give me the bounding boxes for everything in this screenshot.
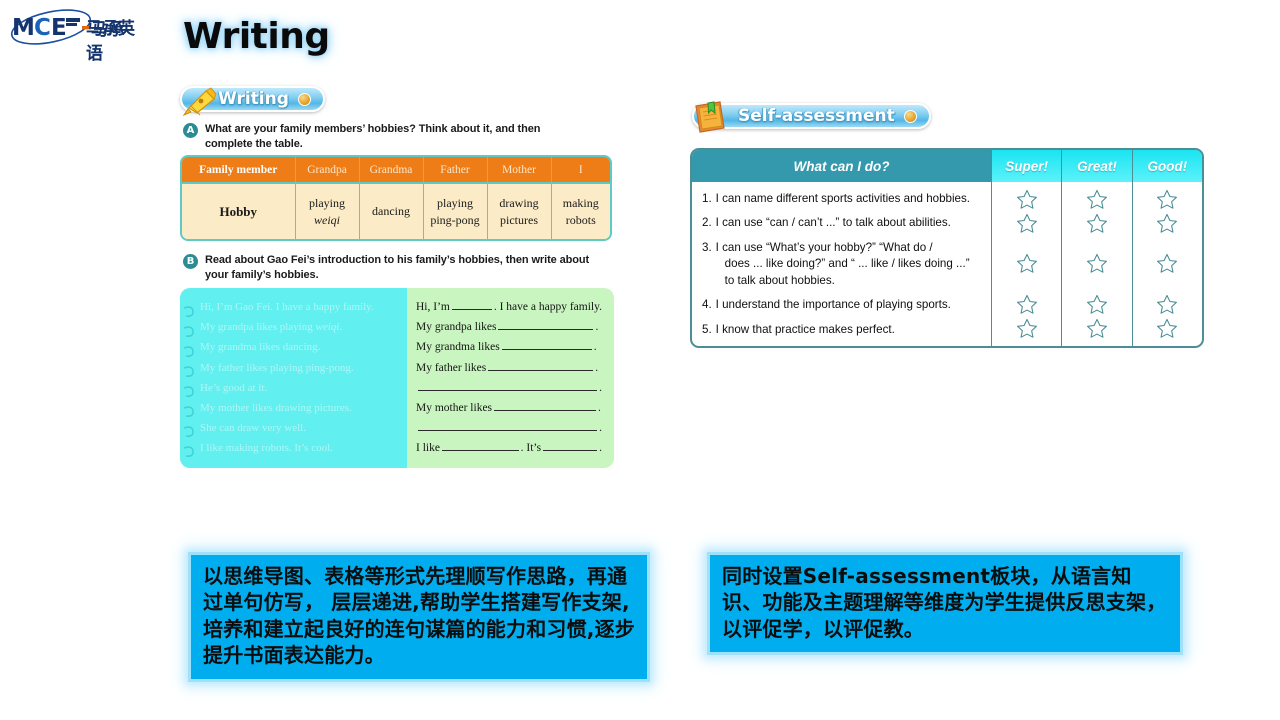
- model-text-line: Hi, I’m Gao Fei. I have a happy family.: [200, 297, 396, 317]
- cell-father-hobby: playing ping-pong: [423, 183, 487, 239]
- practice-prefix: My grandma likes: [416, 337, 500, 357]
- sa-statement-row: 5.I know that practice makes perfect.: [692, 318, 991, 342]
- task-a-text: What are your family members’ hobbies? T…: [205, 122, 575, 152]
- cell-line-1: playing: [437, 196, 473, 210]
- star-cell[interactable]: [1062, 211, 1131, 235]
- badge-dot-icon: [298, 93, 311, 106]
- star-outline-icon[interactable]: [1016, 213, 1038, 234]
- star-outline-icon[interactable]: [1086, 213, 1108, 234]
- practice-text-line: My mother likes.: [416, 398, 602, 418]
- star-outline-icon[interactable]: [1016, 189, 1038, 210]
- sa-star-column-great: [1062, 182, 1132, 346]
- writing-badge: Writing: [180, 86, 325, 112]
- annotation-callout-right: 同时设置Self-assessment板块，从语言知识、功能及主题理解等维度为学…: [707, 552, 1183, 655]
- annotation-text: 以思维导图、表格等形式先理顺写作思路，再通过单句仿写， 层层递进,帮助学生搭建写…: [203, 563, 637, 669]
- cell-grandma-hobby: dancing: [359, 183, 423, 239]
- table-row: Hobby playing weiqi dancing playing ping…: [182, 183, 610, 239]
- sa-col-header-super: Super!: [992, 150, 1062, 182]
- practice-text-line: .: [416, 418, 602, 438]
- sa-row-text: I understand the importance of playing s…: [716, 297, 983, 313]
- annotation-callout-left: 以思维导图、表格等形式先理顺写作思路，再通过单句仿写， 层层递进,帮助学生搭建写…: [188, 552, 650, 682]
- slide-page: M C E 马承 x . 马承英语 Writing Writing: [0, 0, 1280, 720]
- table-header-row: Family member Grandpa Grandma Father Mot…: [182, 157, 610, 183]
- cell-line-2: pictures: [500, 213, 538, 227]
- sa-col-header-question: What can I do?: [692, 150, 992, 182]
- sa-header-row: What can I do? Super! Great! Good!: [692, 150, 1202, 182]
- col-header-father: Father: [423, 157, 487, 183]
- sa-statement-row: 4.I understand the importance of playing…: [692, 293, 991, 317]
- sa-row-text-line: I understand the importance of playing s…: [716, 298, 951, 311]
- star-outline-icon[interactable]: [1016, 253, 1038, 274]
- self-assessment-badge: Self-assessment: [692, 103, 931, 129]
- sa-col-header-great: Great!: [1062, 150, 1132, 182]
- sa-row-number: 1.: [702, 191, 712, 207]
- model-text-line: My grandma likes dancing.: [200, 337, 396, 357]
- sa-col-header-good: Good!: [1133, 150, 1202, 182]
- practice-prefix: My father likes: [416, 358, 486, 378]
- sa-row-text-line: I can name different sports activities a…: [716, 192, 970, 205]
- star-outline-icon[interactable]: [1086, 294, 1108, 315]
- star-outline-icon[interactable]: [1016, 318, 1038, 339]
- sa-row-number: 2.: [702, 215, 712, 231]
- star-outline-icon[interactable]: [1016, 294, 1038, 315]
- col-header-family-member: Family member: [182, 157, 295, 183]
- fill-in-blank[interactable]: [494, 399, 596, 411]
- self-assessment-table: What can I do? Super! Great! Good! 1.I c…: [690, 148, 1204, 348]
- fill-in-blank[interactable]: [442, 439, 519, 451]
- fill-in-blank[interactable]: [502, 338, 592, 350]
- practice-prefix: I like: [416, 438, 440, 458]
- practice-text-line: My father likes.: [416, 358, 602, 378]
- star-cell[interactable]: [992, 187, 1061, 211]
- practice-prefix: My grandpa likes: [416, 317, 496, 337]
- practice-text-line: I like. It’s.: [416, 438, 602, 458]
- sa-statement-row: 3.I can use “What’s your hobby?” “What d…: [692, 236, 991, 293]
- practice-midfix: . It’s: [521, 438, 541, 458]
- practice-midfix: .: [594, 337, 597, 357]
- cell-line-2: weiqi: [314, 213, 340, 227]
- practice-text-line: .: [416, 378, 602, 398]
- star-cell[interactable]: [1133, 187, 1202, 211]
- cell-line-2: robots: [566, 213, 596, 227]
- practice-midfix: .: [595, 317, 598, 337]
- star-outline-icon[interactable]: [1156, 253, 1178, 274]
- col-header-grandma: Grandma: [359, 157, 423, 183]
- fill-in-blank[interactable]: [452, 298, 492, 310]
- star-cell[interactable]: [1062, 235, 1131, 292]
- practice-text-line: Hi, I’m. I have a happy family.: [416, 297, 602, 317]
- logo-chinese-text: 马承英语: [86, 14, 148, 64]
- model-text-line: My mother likes drawing pictures.: [200, 398, 396, 418]
- sa-row-text-line: to talk about hobbies.: [716, 273, 983, 289]
- sa-row-text-line: I know that practice makes perfect.: [716, 323, 895, 336]
- self-assessment-badge-pill: Self-assessment: [692, 103, 931, 129]
- sa-star-column-super: [992, 182, 1062, 346]
- fill-in-blank[interactable]: [488, 359, 593, 371]
- spiral-binding-icon: [182, 302, 198, 462]
- fill-in-blank[interactable]: [498, 318, 593, 330]
- practice-midfix: .: [599, 378, 602, 398]
- star-cell[interactable]: [1133, 211, 1202, 235]
- model-text-line: My grandpa likes playing weiqi.: [200, 317, 396, 337]
- self-assessment-badge-label: Self-assessment: [738, 106, 895, 126]
- star-outline-icon[interactable]: [1086, 318, 1108, 339]
- star-cell[interactable]: [1062, 316, 1131, 340]
- sa-statement-column: 1.I can name different sports activities…: [692, 182, 992, 346]
- sa-statement-row: 2.I can use “can / can’t ...” to talk ab…: [692, 211, 991, 235]
- book-icon: [690, 98, 734, 138]
- sa-row-text-line: I can use “can / can’t ...” to talk abou…: [716, 216, 951, 229]
- fill-in-blank[interactable]: [418, 379, 597, 391]
- practice-text-line: My grandpa likes.: [416, 317, 602, 337]
- star-cell[interactable]: [992, 316, 1061, 340]
- model-text-line: I like making robots. It’s cool.: [200, 438, 396, 458]
- sa-row-text: I can use “can / can’t ...” to talk abou…: [716, 215, 983, 231]
- cell-i-hobby: making robots: [551, 183, 610, 239]
- sa-row-text-line: I can use “What’s your hobby?” “What do …: [716, 241, 933, 254]
- star-cell[interactable]: [992, 211, 1061, 235]
- brand-logo: M C E 马承 x . 马承英语: [8, 6, 148, 48]
- model-text-lines: Hi, I’m Gao Fei. I have a happy family.M…: [200, 297, 396, 459]
- practice-text-line: My grandma likes.: [416, 337, 602, 357]
- badge-dot-icon: [904, 110, 917, 123]
- pen-nib-icon: [180, 82, 220, 120]
- cell-mother-hobby: drawing pictures: [487, 183, 551, 239]
- fill-in-blank[interactable]: [418, 419, 597, 431]
- sa-row-number: 5.: [702, 322, 712, 338]
- writing-badge-pill: Writing: [180, 86, 325, 112]
- svg-text:M: M: [12, 15, 35, 41]
- star-cell[interactable]: [992, 292, 1061, 316]
- task-b-text: Read about Gao Fei’s introduction to his…: [205, 253, 595, 283]
- cell-grandpa-hobby: playing weiqi: [295, 183, 359, 239]
- task-b-bullet: B: [183, 254, 198, 269]
- star-cell[interactable]: [1133, 292, 1202, 316]
- task-a: A What are your family members’ hobbies?…: [183, 122, 575, 152]
- star-cell[interactable]: [1062, 187, 1131, 211]
- star-cell[interactable]: [1133, 235, 1202, 292]
- star-outline-icon[interactable]: [1156, 318, 1178, 339]
- sa-row-number: 3.: [702, 240, 712, 289]
- practice-prefix: My mother likes: [416, 398, 492, 418]
- sa-body: 1.I can name different sports activities…: [692, 182, 1202, 346]
- model-text-line: She can draw very well.: [200, 418, 396, 438]
- cell-line-1: playing: [309, 196, 345, 210]
- page-title: Writing: [183, 16, 330, 57]
- task-b: B Read about Gao Fei’s introduction to h…: [183, 253, 595, 283]
- practice-text-lines: Hi, I’m. I have a happy family.My grandp…: [416, 297, 602, 459]
- practice-midfix: .: [595, 358, 598, 378]
- writing-panels: Hi, I’m Gao Fei. I have a happy family.M…: [180, 288, 614, 468]
- star-cell[interactable]: [1133, 316, 1202, 340]
- sa-row-text: I know that practice makes perfect.: [716, 322, 983, 338]
- col-header-mother: Mother: [487, 157, 551, 183]
- scallop-edge-icon: [397, 288, 407, 468]
- practice-text-panel: Hi, I’m. I have a happy family.My grandp…: [406, 288, 614, 468]
- star-outline-icon[interactable]: [1156, 213, 1178, 234]
- practice-midfix: .: [598, 398, 601, 418]
- cell-line-1: making: [563, 196, 599, 210]
- star-outline-icon[interactable]: [1086, 253, 1108, 274]
- sa-star-column-good: [1133, 182, 1202, 346]
- practice-midfix: .: [599, 418, 602, 438]
- practice-suffix: .: [599, 438, 602, 458]
- sa-row-number: 4.: [702, 297, 712, 313]
- model-text-line: He’s good at it.: [200, 378, 396, 398]
- row-label-hobby: Hobby: [182, 183, 295, 239]
- sa-statement-row: 1.I can name different sports activities…: [692, 187, 991, 211]
- star-outline-icon[interactable]: [1086, 189, 1108, 210]
- svg-text:C: C: [34, 15, 51, 41]
- family-hobby-table: Family member Grandpa Grandma Father Mot…: [180, 155, 612, 241]
- col-header-grandpa: Grandpa: [295, 157, 359, 183]
- fill-in-blank[interactable]: [543, 439, 597, 451]
- task-a-bullet: A: [183, 123, 198, 138]
- practice-prefix: Hi, I’m: [416, 297, 450, 317]
- italic-term: weiqi: [315, 321, 339, 333]
- cell-line-1: dancing: [372, 204, 410, 218]
- writing-badge-label: Writing: [218, 89, 289, 109]
- model-text-line: My father likes playing ping-pong.: [200, 358, 396, 378]
- svg-text:E: E: [51, 15, 67, 41]
- sa-row-text: I can use “What’s your hobby?” “What do …: [716, 240, 983, 289]
- model-text-panel: Hi, I’m Gao Fei. I have a happy family.M…: [180, 288, 406, 468]
- sa-row-text-line: does ... like doing?” and “ ... like / l…: [716, 256, 983, 272]
- star-cell[interactable]: [992, 235, 1061, 292]
- sa-row-text: I can name different sports activities a…: [716, 191, 983, 207]
- cell-line-1: drawing: [499, 196, 538, 210]
- practice-midfix: . I have a happy family.: [494, 297, 602, 317]
- star-outline-icon[interactable]: [1156, 189, 1178, 210]
- cell-line-2: ping-pong: [430, 213, 479, 227]
- star-outline-icon[interactable]: [1156, 294, 1178, 315]
- col-header-i: I: [551, 157, 610, 183]
- star-cell[interactable]: [1062, 292, 1131, 316]
- annotation-text: 同时设置Self-assessment板块，从语言知识、功能及主题理解等维度为学…: [722, 563, 1170, 642]
